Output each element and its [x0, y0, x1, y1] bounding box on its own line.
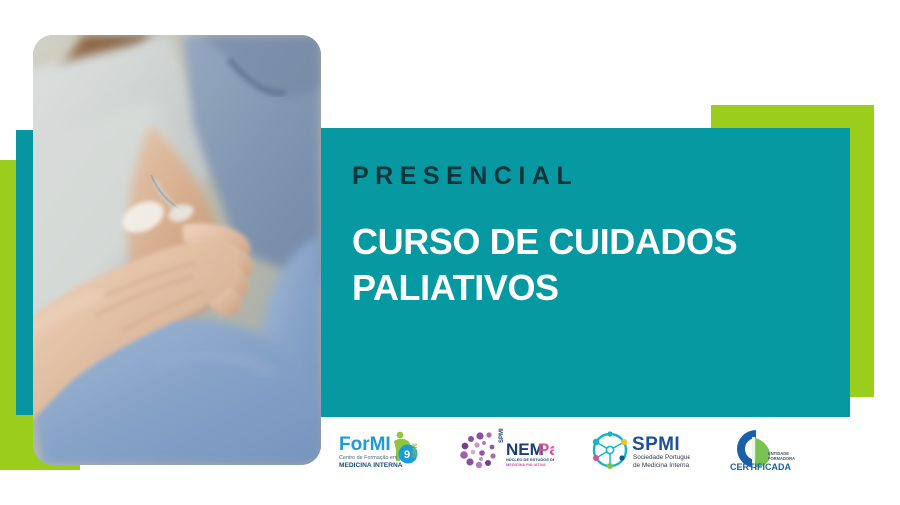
spmi-network-icon [593, 431, 627, 469]
poster-canvas: PRESENCIAL CURSO DE CUIDADOS PALIATIVOS … [0, 0, 900, 505]
certificada-tagline-line2: FORMADORA [768, 456, 795, 461]
spmi-tagline-line2: de Medicina Interna [633, 462, 690, 469]
nempal-vertical-spmi: SPMI [499, 428, 505, 443]
formi-tagline-bold: MEDICINA INTERNA [339, 462, 403, 469]
formi-tagline-small: Centro de Formação em [339, 455, 398, 461]
spmi-tagline-line1: Sociedade Portuguesa [633, 454, 690, 461]
hero-photo [33, 35, 321, 465]
svg-text:9: 9 [404, 449, 410, 461]
nempal-tagline-line2: MEDICINA PALIATIVA [506, 462, 546, 467]
page-title: CURSO DE CUIDADOS PALIATIVOS [352, 219, 832, 311]
headline-block: PRESENCIAL CURSO DE CUIDADOS PALIATIVOS [352, 163, 832, 311]
formi-vertical-spmi: SPMI [413, 443, 419, 458]
headline-line-1: CURSO DE CUIDADOS [352, 219, 832, 265]
logo-spmi: SPMI Sociedade Portuguesa de Medicina In… [586, 428, 690, 472]
logo-dgert-certificada: ENTIDADE FORMADORA CERTIFICADA [722, 424, 798, 476]
kicker-text: PRESENCIAL [352, 163, 832, 191]
nempal-dots-icon [460, 432, 495, 468]
logo-nempal: SPMI NEM Pal NÚCLEO DE ESTUDOS DE MEDICI… [458, 428, 554, 472]
spmi-wordmark: SPMI [632, 434, 680, 455]
certificada-wordmark: CERTIFICADA [730, 462, 791, 472]
logo-formi: ForMI 9 SPMI Centro de Formação em MEDIC… [338, 428, 426, 472]
formi-wordmark: ForMI [339, 434, 391, 455]
logo-strip: ForMI 9 SPMI Centro de Formação em MEDIC… [338, 420, 788, 480]
headline-line-2: PALIATIVOS [352, 265, 832, 311]
